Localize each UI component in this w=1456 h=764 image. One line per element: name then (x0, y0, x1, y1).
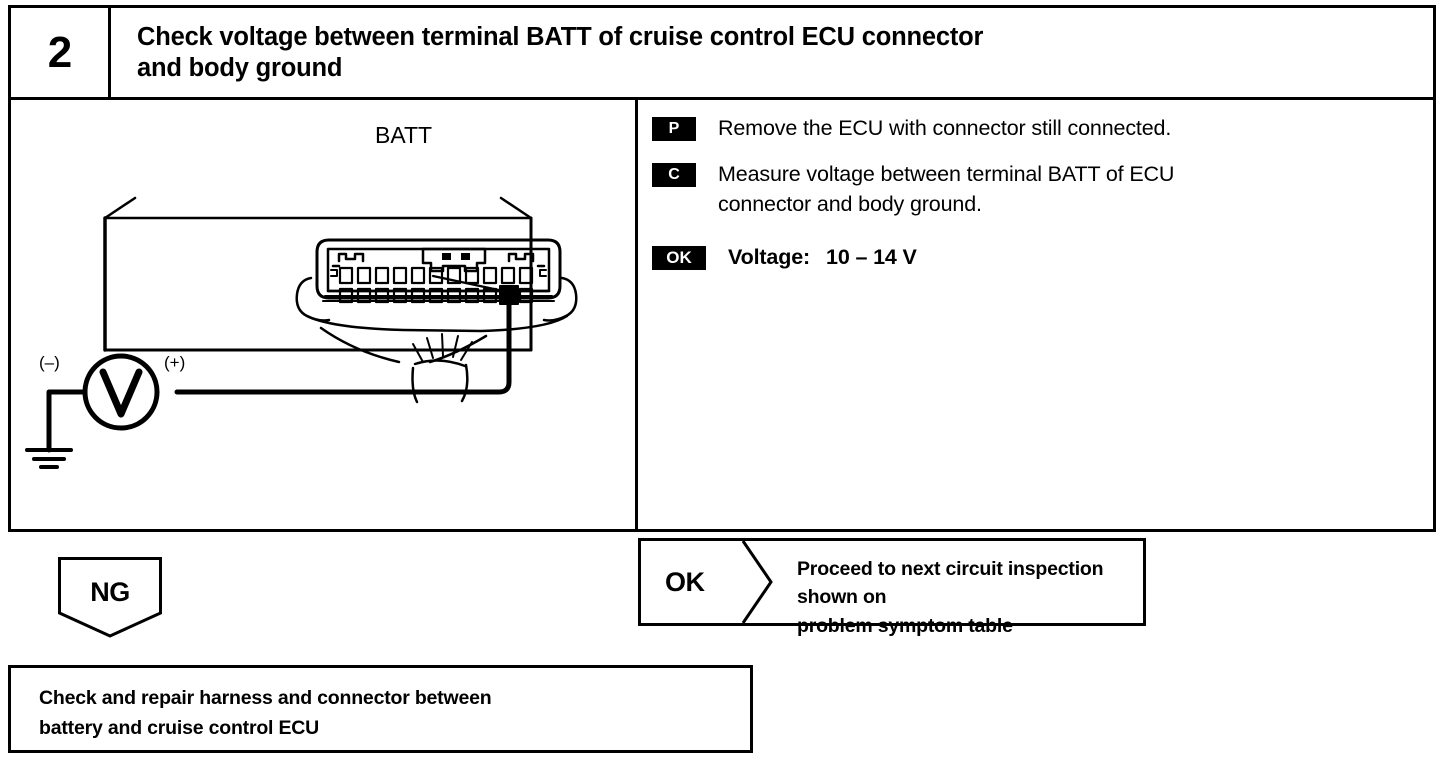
illustration-panel: BATT (–) (+) (11, 100, 638, 529)
instruction-text-ok: Voltage:10 – 14 V (728, 243, 917, 272)
voltage-spec-label: Voltage: (728, 245, 810, 269)
ok-badge-label: OK (665, 567, 705, 598)
ng-result-line-2: battery and cruise control ECU (39, 713, 750, 743)
badge-check-icon: C (652, 163, 696, 187)
voltage-spec-value: 10 – 14 V (826, 245, 917, 269)
ok-result-line-1: Proceed to next circuit inspection shown… (797, 555, 1135, 612)
step-header: 2 Check voltage between terminal BATT of… (11, 8, 1433, 100)
ng-result-text: Check and repair harness and connector b… (39, 683, 750, 743)
step-number: 2 (48, 31, 71, 75)
badge-prepare-icon: P (652, 117, 696, 141)
chevron-right-icon (737, 541, 777, 623)
step-title: Check voltage between terminal BATT of c… (137, 22, 983, 83)
voltmeter (85, 356, 157, 428)
batt-terminal-label: BATT (375, 122, 432, 148)
step-title-line-2: and body ground (137, 53, 983, 84)
ng-badge-label: NG (58, 577, 162, 608)
instruction-text-c: Measure voltage between terminal BATT of… (718, 160, 1174, 219)
instruction-text-c-line-2: connector and body ground. (718, 192, 982, 216)
step-frame: 2 Check voltage between terminal BATT of… (8, 5, 1436, 532)
instruction-text-c-line-1: Measure voltage between terminal BATT of… (718, 162, 1174, 186)
ng-result-line-1: Check and repair harness and connector b… (39, 683, 750, 713)
negative-lead-wire (49, 392, 85, 450)
badge-ok-icon: OK (652, 246, 706, 270)
instruction-item-c: C Measure voltage between terminal BATT … (652, 160, 1419, 219)
ng-result-box: Check and repair harness and connector b… (8, 665, 753, 753)
batt-pin-highlight (500, 286, 518, 304)
step-title-cell: Check voltage between terminal BATT of c… (111, 8, 1433, 97)
diagnostic-chart-page: 2 Check voltage between terminal BATT of… (0, 0, 1456, 764)
ok-result-box: OK Proceed to next circuit inspection sh… (638, 538, 1146, 626)
ground-symbol (27, 450, 71, 467)
instruction-text-p: Remove the ECU with connector still conn… (718, 114, 1171, 143)
instruction-item-p: P Remove the ECU with connector still co… (652, 114, 1419, 143)
instruction-item-ok: OK Voltage:10 – 14 V (652, 243, 1419, 272)
negative-lead-label: (–) (39, 353, 60, 372)
step-title-line-1: Check voltage between terminal BATT of c… (137, 22, 983, 53)
instructions-panel: P Remove the ECU with connector still co… (638, 100, 1433, 529)
ok-result-text: Proceed to next circuit inspection shown… (797, 555, 1135, 640)
ecu-voltage-measurement-diagram: BATT (–) (+) (11, 100, 638, 529)
step-body: BATT (–) (+) P Remove the ECU with conne… (11, 100, 1433, 529)
step-number-cell: 2 (11, 8, 111, 97)
ok-result-line-2: problem symptom table (797, 612, 1135, 640)
positive-lead-label: (+) (164, 353, 185, 372)
ng-badge: NG (58, 557, 162, 638)
